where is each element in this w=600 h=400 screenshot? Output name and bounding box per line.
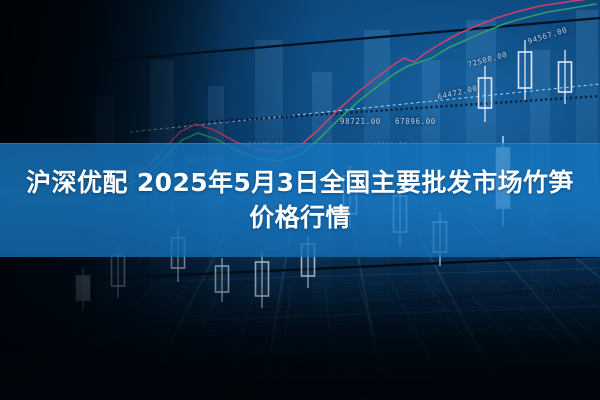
page-title: 沪深优配 2025年5月3日全国主要批发市场竹笋 价格行情 xyxy=(0,143,600,257)
title-line-2: 价格行情 xyxy=(249,201,351,234)
price-label-4: 98721.00 xyxy=(340,117,381,126)
price-label-3: 67896.00 xyxy=(395,117,436,126)
title-line-1: 沪深优配 2025年5月3日全国主要批发市场竹笋 xyxy=(26,166,574,199)
banner-image: 94567.0072500.0064472.0067896.0098721.00… xyxy=(0,0,600,400)
